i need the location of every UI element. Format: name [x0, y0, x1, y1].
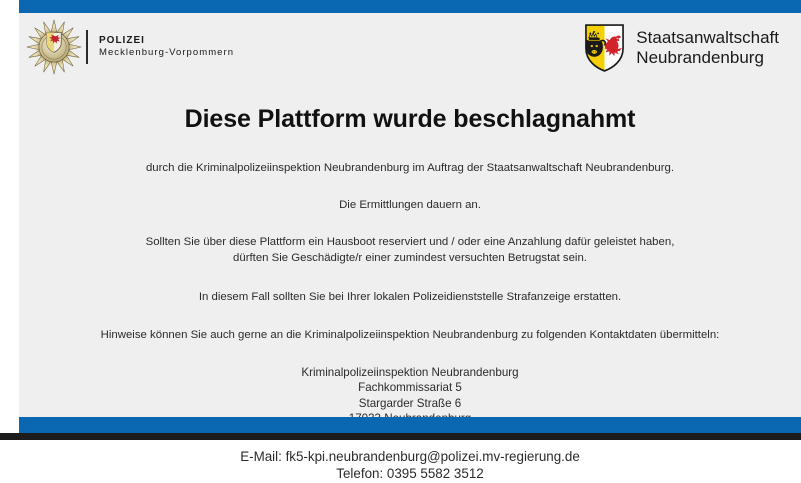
- polizei-wordmark: POLIZEI Mecklenburg-Vorpommern: [99, 35, 234, 60]
- staatsanwaltschaft-logo: Staatsanwaltschaft Neubrandenburg: [584, 23, 779, 73]
- polizei-logo: POLIZEI Mecklenburg-Vorpommern: [25, 18, 234, 76]
- paragraph-hausboot-line2: dürften Sie Geschädigte/r einer zumindes…: [233, 252, 587, 264]
- paragraph-ermittlungen: Die Ermittlungen dauern an.: [19, 198, 801, 214]
- bottom-accent-bar: [19, 417, 801, 433]
- address-line-department: Fachkommissariat 5: [19, 380, 801, 395]
- address-line-organisation: Kriminalpolizeiinspektion Neubrandenburg: [19, 365, 801, 380]
- polizei-star-badge-icon: [25, 18, 83, 76]
- contact-details-block: E-Mail: fk5-kpi.neubrandenburg@polizei.m…: [19, 448, 801, 483]
- staatsanwaltschaft-line2: Neubrandenburg: [636, 48, 779, 68]
- address-line-street: Stargarder Straße 6: [19, 396, 801, 411]
- screenshot-viewport: POLIZEI Mecklenburg-Vorpommern: [0, 0, 801, 440]
- staatsanwaltschaft-line1: Staatsanwaltschaft: [636, 28, 779, 48]
- top-accent-bar: [19, 0, 801, 13]
- staatsanwaltschaft-wordmark: Staatsanwaltschaft Neubrandenburg: [636, 28, 779, 69]
- mecklenburg-vorpommern-coat-of-arms-icon: [584, 23, 625, 73]
- contact-phone: Telefon: 0395 5582 3512: [19, 465, 801, 482]
- bottom-edge-strip: [0, 433, 801, 440]
- polizei-name: POLIZEI: [99, 35, 234, 48]
- page-title: Diese Plattform wurde beschlagnahmt: [19, 105, 801, 134]
- paragraph-hausboot-line1: Sollten Sie über diese Plattform ein Hau…: [146, 236, 675, 248]
- seizure-notice-page: POLIZEI Mecklenburg-Vorpommern: [19, 0, 801, 433]
- page-content-area: POLIZEI Mecklenburg-Vorpommern: [19, 13, 801, 417]
- paragraph-auftrag: durch die Kriminalpolizeiinspektion Neub…: [19, 161, 801, 177]
- page-header: POLIZEI Mecklenburg-Vorpommern: [19, 13, 801, 85]
- paragraph-strafanzeige: In diesem Fall sollten Sie bei Ihrer lok…: [19, 290, 801, 306]
- polizei-state: Mecklenburg-Vorpommern: [99, 47, 234, 59]
- contact-email[interactable]: E-Mail: fk5-kpi.neubrandenburg@polizei.m…: [19, 448, 801, 465]
- logo-divider: [86, 30, 88, 64]
- paragraph-hinweise: Hinweise können Sie auch gerne an die Kr…: [19, 328, 801, 344]
- paragraph-hausboot: Sollten Sie über diese Plattform ein Hau…: [19, 235, 801, 266]
